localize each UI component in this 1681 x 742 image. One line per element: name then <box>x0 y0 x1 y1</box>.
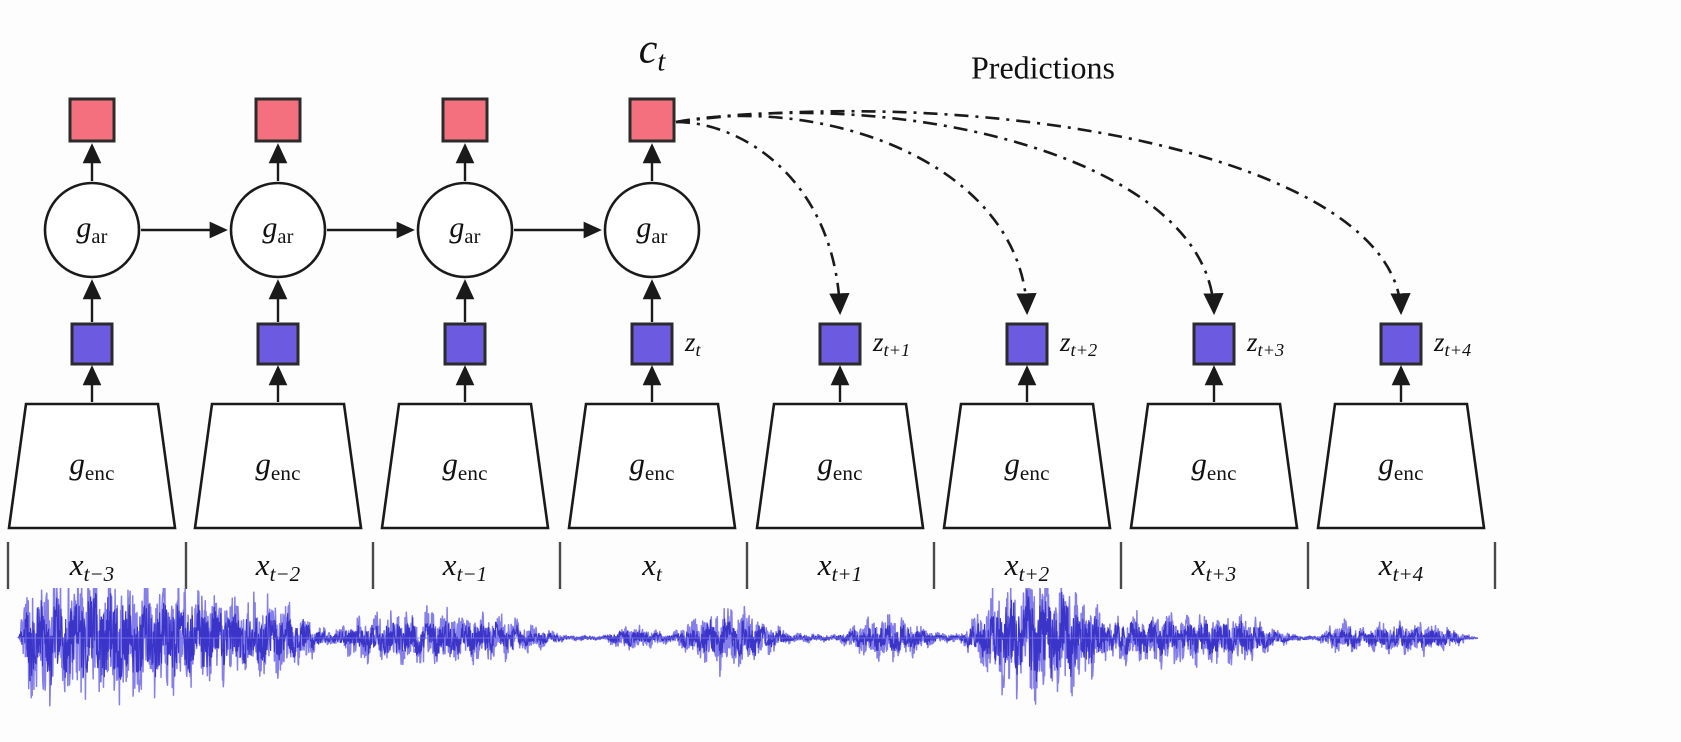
prediction-curve-2 <box>676 116 1027 312</box>
encoder-label: genc <box>629 446 674 486</box>
latent-box <box>258 324 298 364</box>
predictions-label: Predictions <box>971 50 1115 87</box>
context-box <box>630 99 674 141</box>
encoder-trapezoids <box>9 404 1484 528</box>
autoregressive-label: gar <box>636 211 667 249</box>
input-segment-label: xt+2 <box>1005 547 1049 587</box>
input-segment-label: xt+4 <box>1379 547 1423 587</box>
autoregressive-label: gar <box>262 211 293 249</box>
encoder-label: genc <box>255 446 300 486</box>
latent-box <box>445 324 485 364</box>
prediction-curve-3 <box>676 113 1214 312</box>
input-segment-label: xt−3 <box>70 547 114 587</box>
latent-box <box>1381 324 1421 364</box>
encoder-label: genc <box>442 446 487 486</box>
encoder-label: genc <box>1378 446 1423 486</box>
latent-box <box>632 324 672 364</box>
context-box <box>256 99 300 141</box>
encoder-label: genc <box>1191 446 1236 486</box>
latent-label: zt+4 <box>1434 327 1471 361</box>
encoder-label: genc <box>69 446 114 486</box>
latent-label: zt <box>685 327 701 361</box>
input-segment-label: xt <box>642 547 662 587</box>
latent-label: zt+2 <box>1060 327 1097 361</box>
latent-box <box>1194 324 1234 364</box>
context-box <box>443 99 487 141</box>
prediction-curve-1 <box>676 122 840 312</box>
context-box <box>70 99 114 141</box>
latent-label: zt+1 <box>873 327 910 361</box>
latent-box <box>820 324 860 364</box>
diagram-svg <box>0 0 1681 742</box>
input-segment-label: xt+1 <box>818 547 862 587</box>
encoder-label: genc <box>817 446 862 486</box>
prediction-curves <box>676 111 1401 312</box>
input-segment-label: xt−1 <box>443 547 487 587</box>
context-vector-label: ct <box>639 26 666 79</box>
latent-box <box>1007 324 1047 364</box>
input-segment-label: xt+3 <box>1192 547 1236 587</box>
prediction-curve-4 <box>676 111 1401 312</box>
figure-canvas: gencgarxt−3gencgarxt−2gencgarxt−1gencztg… <box>0 0 1681 742</box>
latent-box <box>72 324 112 364</box>
latent-label: zt+3 <box>1247 327 1284 361</box>
autoregressive-label: gar <box>76 211 107 249</box>
autoregressive-label: gar <box>449 211 480 249</box>
encoder-label: genc <box>1004 446 1049 486</box>
input-segment-label: xt−2 <box>256 547 300 587</box>
segment-separators <box>8 542 1495 589</box>
